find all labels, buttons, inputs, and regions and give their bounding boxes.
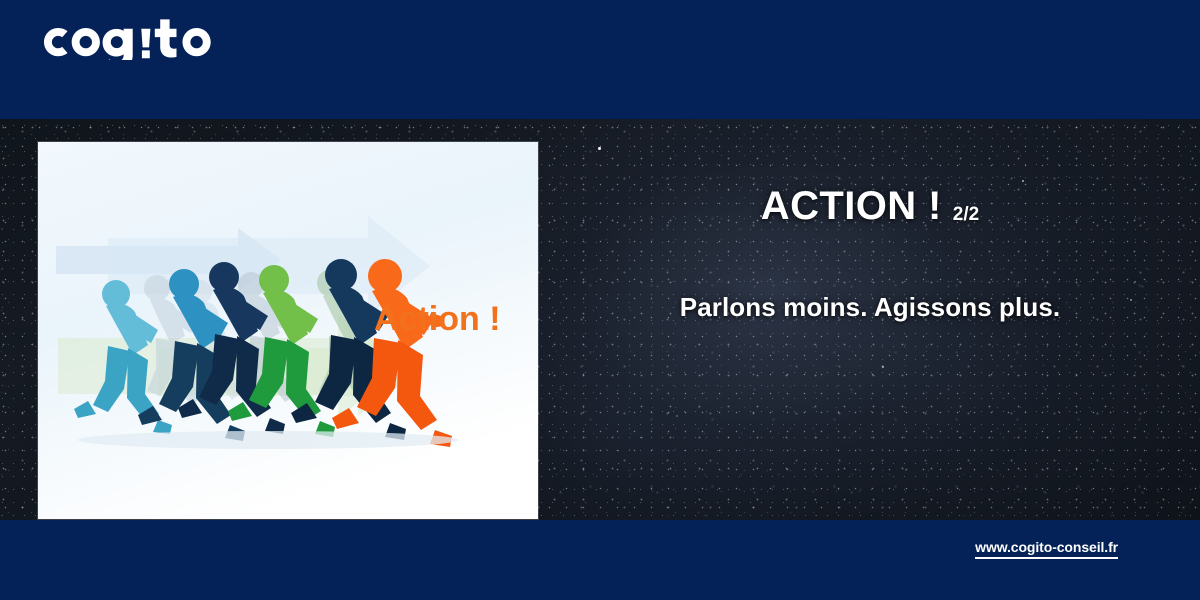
cogito-logo-mark <box>44 14 236 60</box>
website-url-text: www.cogito-conseil.fr <box>975 539 1118 555</box>
action-caption-text: Action ! <box>374 300 501 338</box>
presentation-slide: Action ! ACTION ! 2/2 Parlons moins. Agi… <box>0 0 1200 600</box>
slide-text-column: ACTION ! 2/2 Parlons moins. Agissons plu… <box>560 150 1180 480</box>
website-url-link[interactable]: www.cogito-conseil.fr <box>975 539 1118 559</box>
ground-shadow <box>78 431 458 449</box>
cogito-logo[interactable]: cog!to <box>44 14 236 60</box>
slide-title-row: ACTION ! 2/2 <box>560 184 1180 229</box>
url-underline <box>975 557 1118 559</box>
action-illustration-card: Action ! <box>38 142 538 519</box>
slide-subtitle: Parlons moins. Agissons plus. <box>560 292 1180 323</box>
title-page-counter: 2/2 <box>953 204 979 226</box>
running-people-artwork: Action ! <box>38 142 538 519</box>
header-band: cog!to <box>0 0 1200 119</box>
page-title: ACTION ! <box>761 184 942 229</box>
footer-band: www.cogito-conseil.fr <box>0 520 1200 600</box>
